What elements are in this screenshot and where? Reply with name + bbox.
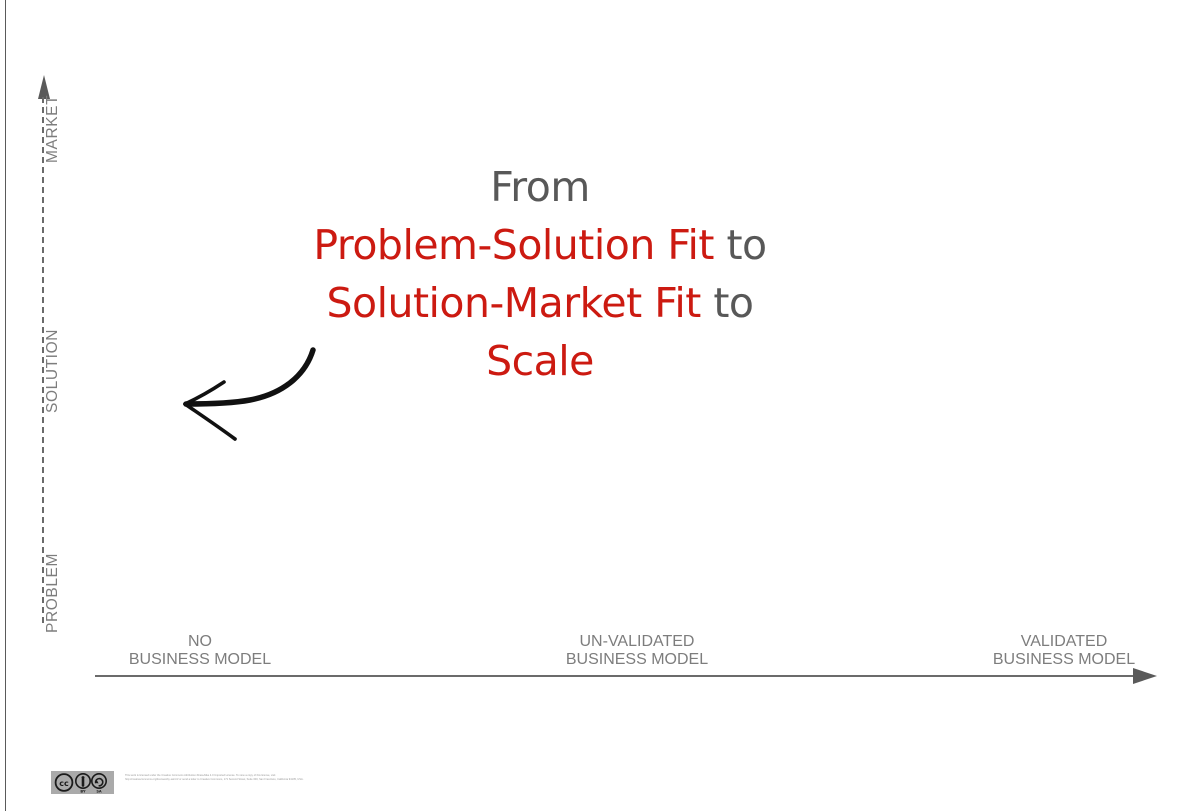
headline-line-2-part-1: Problem-Solution Fit bbox=[313, 221, 714, 269]
svg-text:cc: cc bbox=[59, 779, 69, 788]
slide-left-border bbox=[5, 0, 6, 811]
x-axis-label-un-validated-line2: BUSINESS MODEL bbox=[537, 651, 737, 669]
x-axis-label-validated-line1: VALIDATED bbox=[964, 633, 1164, 651]
headline-line-1: From bbox=[230, 158, 850, 216]
slide-canvas: MARKET SOLUTION PROBLEM NO BUSINESS MODE… bbox=[0, 0, 1200, 811]
y-axis-label-market: MARKET bbox=[44, 95, 62, 163]
headline-line-1-part-1: From bbox=[490, 163, 590, 211]
y-axis-label-solution: SOLUTION bbox=[44, 329, 62, 413]
license-text: This work is licensed under the Creative… bbox=[125, 771, 315, 781]
svg-text:BY: BY bbox=[80, 789, 86, 793]
x-axis-label-no-business-model-line2: BUSINESS MODEL bbox=[100, 651, 300, 669]
x-axis bbox=[95, 668, 1157, 688]
x-axis-label-un-validated-business-model: UN-VALIDATED BUSINESS MODEL bbox=[537, 633, 737, 669]
x-axis-label-validated-line2: BUSINESS MODEL bbox=[964, 651, 1164, 669]
headline-line-3-part-1: Solution-Market Fit bbox=[326, 279, 700, 327]
x-axis-label-no-business-model: NO BUSINESS MODEL bbox=[100, 633, 300, 669]
hand-drawn-arrow-icon bbox=[172, 342, 342, 452]
svg-text:SA: SA bbox=[96, 789, 102, 793]
headline-line-4-part-1: Scale bbox=[486, 337, 594, 385]
headline-line-3: Solution-Market Fit to bbox=[230, 274, 850, 332]
x-axis-label-no-business-model-line1: NO bbox=[100, 633, 300, 651]
headline-line-2-part-2: to bbox=[714, 221, 767, 269]
x-axis-label-validated-business-model: VALIDATED BUSINESS MODEL bbox=[964, 633, 1164, 669]
x-axis-label-un-validated-line1: UN-VALIDATED bbox=[537, 633, 737, 651]
headline-line-2: Problem-Solution Fit to bbox=[230, 216, 850, 274]
creative-commons-badge-icon[interactable]: cc BY SA bbox=[51, 771, 114, 794]
x-axis-solid-line bbox=[95, 675, 1137, 677]
y-axis-label-problem: PROBLEM bbox=[44, 553, 62, 633]
x-axis-arrow-icon bbox=[1133, 668, 1157, 684]
headline-line-3-part-2: to bbox=[701, 279, 754, 327]
license-footer: cc BY SA This work is licensed under the… bbox=[51, 771, 315, 794]
